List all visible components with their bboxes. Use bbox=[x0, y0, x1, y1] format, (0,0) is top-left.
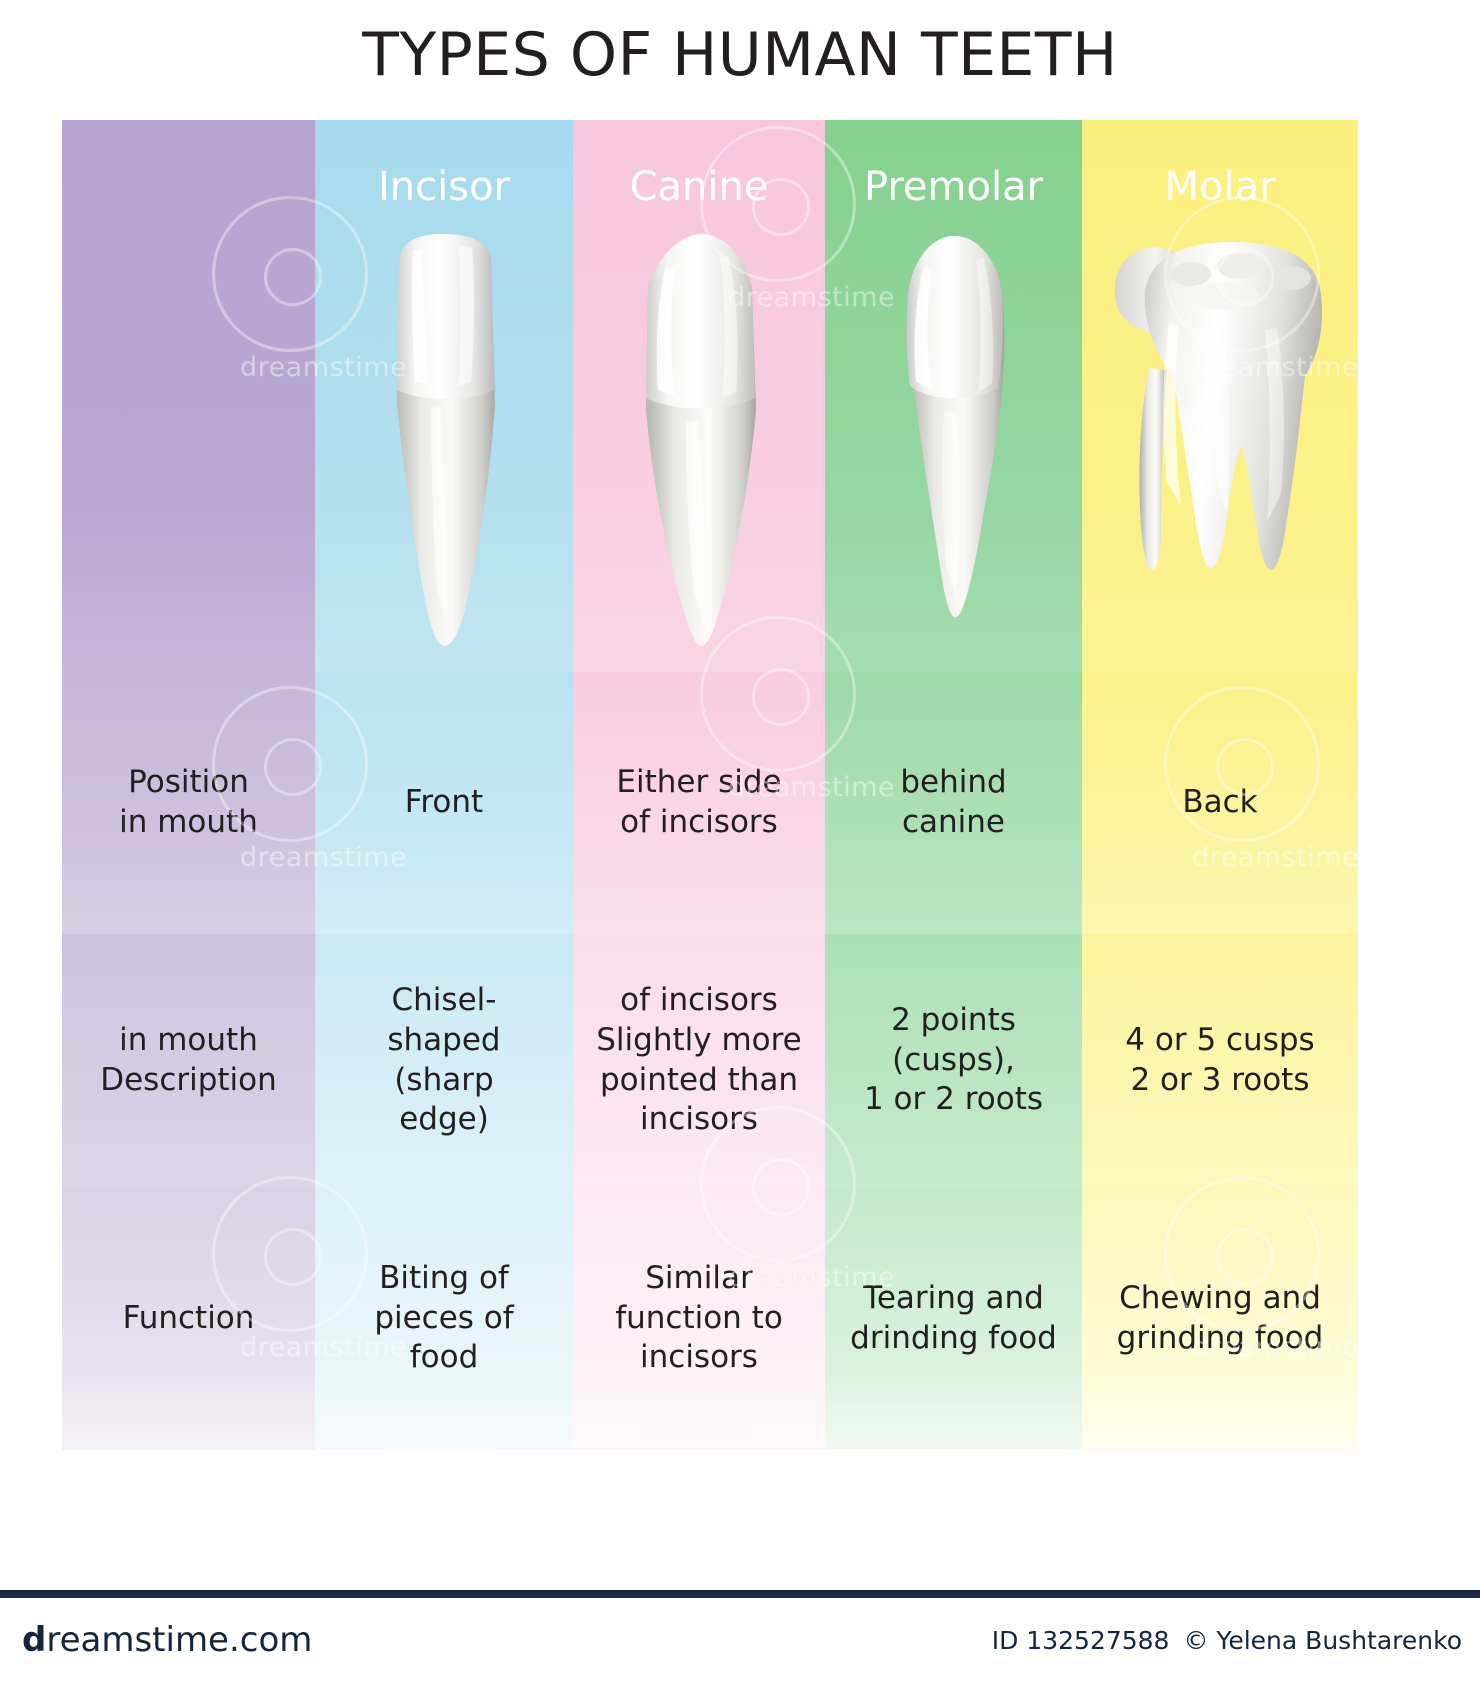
column-header-premolar: Premolar bbox=[825, 164, 1082, 210]
table-column-incisor: Incisor bbox=[315, 120, 573, 1450]
row-label-function: Function bbox=[62, 1187, 315, 1450]
premolar-tooth-svg bbox=[884, 230, 1024, 630]
page-title: TYPES OF HUMAN TEETH bbox=[0, 20, 1480, 90]
row-label-function-text: Function bbox=[123, 1299, 255, 1339]
cell-canine-function-text: Similar function to incisors bbox=[615, 1259, 783, 1378]
cell-premolar-description: 2 points (cusps), 1 or 2 roots bbox=[825, 934, 1082, 1187]
column-header-incisor: Incisor bbox=[315, 164, 573, 210]
premolar-tooth-icon bbox=[825, 230, 1082, 660]
cell-premolar-function: Tearing and drinding food bbox=[825, 1187, 1082, 1450]
brand-initial: d bbox=[22, 1620, 46, 1660]
cell-molar-position: Back bbox=[1082, 672, 1358, 934]
molar-tooth-icon bbox=[1082, 230, 1358, 660]
row-label-position: Position in mouth bbox=[62, 672, 315, 934]
cell-incisor-description-text: Chisel- shaped (sharp edge) bbox=[387, 981, 500, 1140]
canine-tooth-icon bbox=[573, 230, 825, 660]
row-label-description: in mouth Description bbox=[62, 934, 315, 1187]
cell-molar-function-text: Chewing and grinding food bbox=[1117, 1279, 1324, 1358]
table-column-molar: Molar bbox=[1082, 120, 1358, 1450]
incisor-tooth-svg bbox=[379, 230, 509, 650]
column-header-molar: Molar bbox=[1082, 164, 1358, 210]
cell-canine-description-text: of incisors Slightly more pointed than i… bbox=[596, 981, 802, 1140]
cell-canine-position: Either side of incisors bbox=[573, 672, 825, 934]
footer: dreamstime.com ID 132527588© Yelena Bush… bbox=[0, 1592, 1480, 1690]
image-credit: ID 132527588© Yelena Bushtarenko bbox=[992, 1626, 1462, 1655]
table-column-canine: Canine bbox=[573, 120, 825, 1450]
table-column-premolar: Premolar bbox=[825, 120, 1082, 1450]
cell-molar-position-text: Back bbox=[1182, 783, 1257, 823]
cell-canine-description: of incisors Slightly more pointed than i… bbox=[573, 934, 825, 1187]
dreamstime-logo[interactable]: dreamstime.com bbox=[22, 1620, 312, 1660]
image-id: ID 132527588 bbox=[992, 1626, 1170, 1655]
cell-molar-description-text: 4 or 5 cusps 2 or 3 roots bbox=[1125, 1021, 1314, 1100]
cell-incisor-position: Front bbox=[315, 672, 573, 934]
cell-premolar-description-text: 2 points (cusps), 1 or 2 roots bbox=[864, 1001, 1043, 1120]
cell-incisor-function: Biting of pieces of food bbox=[315, 1187, 573, 1450]
cell-molar-description: 4 or 5 cusps 2 or 3 roots bbox=[1082, 934, 1358, 1187]
column-header-canine: Canine bbox=[573, 164, 825, 210]
row-label-position-text: Position in mouth bbox=[119, 763, 258, 842]
cell-premolar-position: behind canine bbox=[825, 672, 1082, 934]
row-label-description-text: in mouth Description bbox=[100, 1021, 277, 1100]
cell-premolar-position-text: behind canine bbox=[900, 763, 1006, 842]
cell-incisor-description: Chisel- shaped (sharp edge) bbox=[315, 934, 573, 1187]
cell-molar-function: Chewing and grinding food bbox=[1082, 1187, 1358, 1450]
cell-incisor-function-text: Biting of pieces of food bbox=[374, 1259, 513, 1378]
brand-name: reamstime.com bbox=[46, 1620, 312, 1660]
table-column-labels: Position in mouth in mouth Description F… bbox=[62, 120, 315, 1450]
cell-incisor-position-text: Front bbox=[405, 783, 483, 823]
teeth-comparison-table: Position in mouth in mouth Description F… bbox=[62, 120, 1358, 1450]
molar-tooth-svg bbox=[1105, 230, 1335, 590]
cell-canine-function: Similar function to incisors bbox=[573, 1187, 825, 1450]
incisor-tooth-icon bbox=[315, 230, 573, 660]
cell-premolar-function-text: Tearing and drinding food bbox=[850, 1279, 1057, 1358]
canine-tooth-svg bbox=[624, 230, 774, 650]
copyright-author: © Yelena Bushtarenko bbox=[1183, 1626, 1462, 1655]
cell-canine-position-text: Either side of incisors bbox=[616, 763, 781, 842]
column-header-band bbox=[62, 120, 315, 672]
